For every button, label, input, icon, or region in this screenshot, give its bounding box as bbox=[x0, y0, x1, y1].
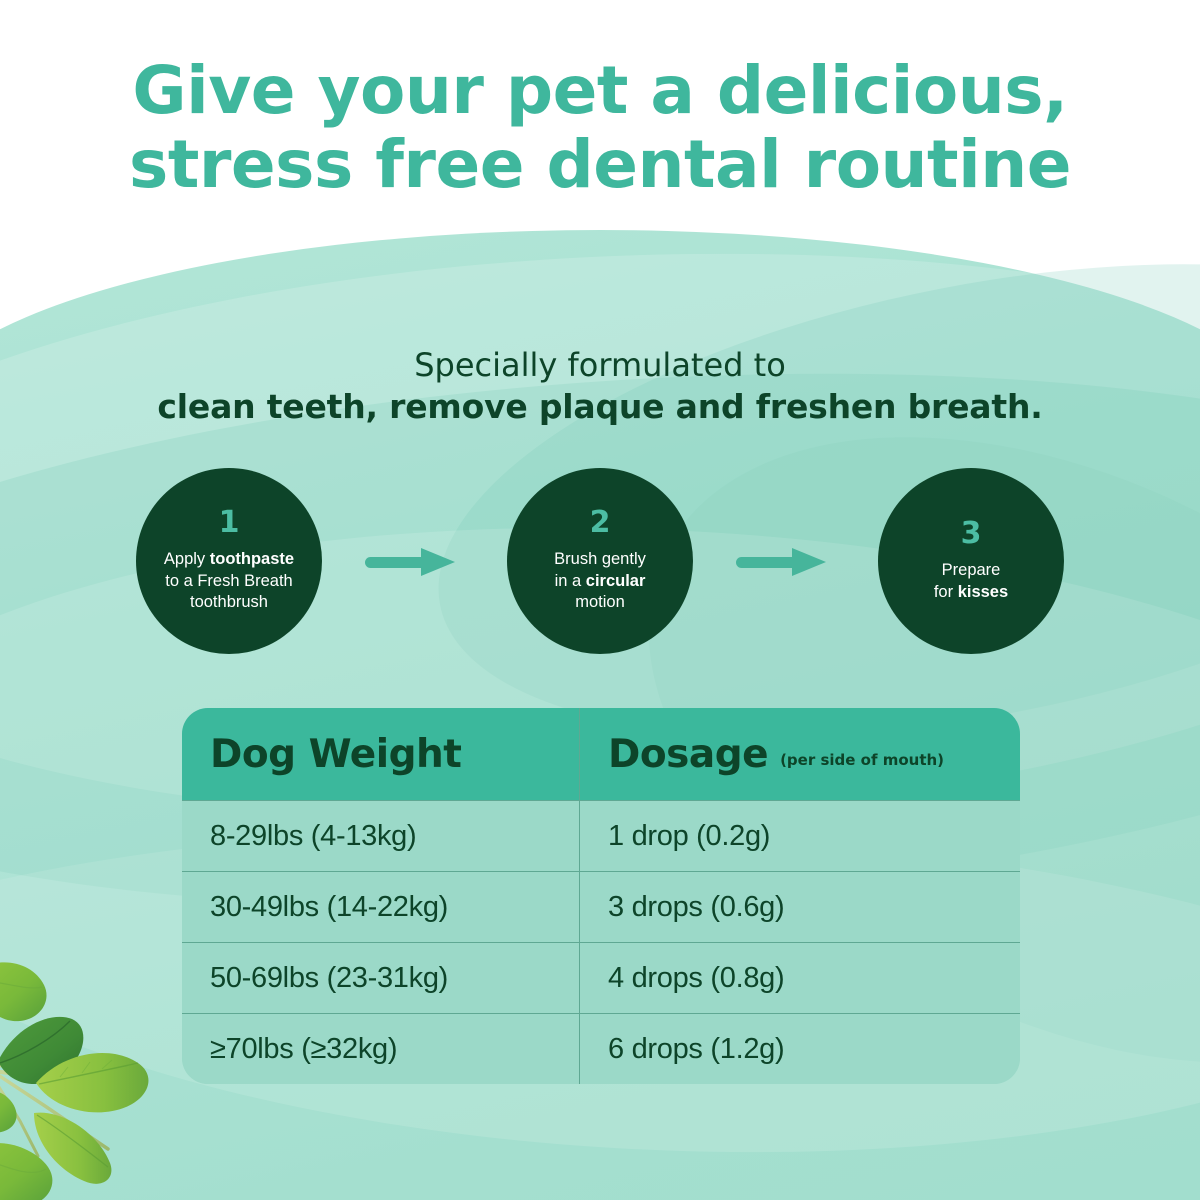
headline-line-2: stress free dental routine bbox=[0, 128, 1200, 202]
weight-value: 50-69lbs (23-31kg) bbox=[210, 962, 448, 995]
step-circle-2: 2 Brush gently in a circular motion bbox=[507, 468, 693, 654]
step-1-line1-bold: toothpaste bbox=[210, 550, 294, 568]
headline-line-1: Give your pet a delicious, bbox=[132, 52, 1067, 129]
subheading-line-1: Specially formulated to bbox=[0, 346, 1200, 386]
step-1-line3: toothbrush bbox=[190, 593, 268, 611]
subheading: Specially formulated to clean teeth, rem… bbox=[0, 346, 1200, 429]
weight-value: 8-29lbs (4-13kg) bbox=[210, 820, 416, 853]
arrow-head bbox=[421, 548, 455, 576]
table-row: 30-49lbs (14-22kg) 3 drops (0.6g) bbox=[182, 871, 1020, 942]
step-number-1: 1 bbox=[219, 508, 240, 538]
step-3-line2-pre: for bbox=[934, 583, 958, 601]
weight-value: ≥70lbs (≥32kg) bbox=[210, 1033, 397, 1066]
step-2-line2-pre: in a bbox=[555, 572, 586, 590]
table-header-dosage-note: (per side of mouth) bbox=[780, 751, 944, 769]
step-circle-1: 1 Apply toothpaste to a Fresh Breath too… bbox=[136, 468, 322, 654]
step-1-line2: to a Fresh Breath bbox=[165, 572, 292, 590]
dosage-value: 4 drops (0.8g) bbox=[608, 962, 784, 995]
table-cell-weight: ≥70lbs (≥32kg) bbox=[182, 1014, 580, 1084]
step-3-line1: Prepare bbox=[942, 561, 1001, 579]
step-1-line1-pre: Apply bbox=[164, 550, 210, 568]
infographic-page: Give your pet a delicious, stress free d… bbox=[0, 0, 1200, 1200]
table-header-cell-weight: Dog Weight bbox=[182, 708, 580, 800]
step-circle-3: 3 Prepare for kisses bbox=[878, 468, 1064, 654]
step-2-line1: Brush gently bbox=[554, 550, 646, 568]
dosage-value: 6 drops (1.2g) bbox=[608, 1033, 784, 1066]
dosage-value: 3 drops (0.6g) bbox=[608, 891, 784, 924]
steps-row: 1 Apply toothpaste to a Fresh Breath too… bbox=[0, 468, 1200, 668]
step-number-2: 2 bbox=[590, 508, 611, 538]
arrow-right-icon-2 bbox=[736, 548, 828, 576]
table-cell-dosage: 4 drops (0.8g) bbox=[580, 943, 1020, 1013]
table-cell-dosage: 3 drops (0.6g) bbox=[580, 872, 1020, 942]
table-row: 50-69lbs (23-31kg) 4 drops (0.8g) bbox=[182, 942, 1020, 1013]
table-header-dosage-label: Dosage bbox=[608, 732, 768, 777]
arrow-shaft bbox=[365, 557, 427, 568]
step-number-3: 3 bbox=[961, 519, 982, 549]
dosage-value: 1 drop (0.2g) bbox=[608, 820, 770, 853]
table-cell-weight: 30-49lbs (14-22kg) bbox=[182, 872, 580, 942]
headline: Give your pet a delicious, stress free d… bbox=[0, 54, 1200, 202]
step-3-line2-bold: kisses bbox=[958, 583, 1008, 601]
arrow-head bbox=[792, 548, 826, 576]
table-row: ≥70lbs (≥32kg) 6 drops (1.2g) bbox=[182, 1013, 1020, 1084]
table-header-row: Dog Weight Dosage (per side of mouth) bbox=[182, 708, 1020, 800]
table-header-cell-dosage: Dosage (per side of mouth) bbox=[580, 708, 1020, 800]
weight-value: 30-49lbs (14-22kg) bbox=[210, 891, 448, 924]
table-row: 8-29lbs (4-13kg) 1 drop (0.2g) bbox=[182, 800, 1020, 871]
table-cell-weight: 50-69lbs (23-31kg) bbox=[182, 943, 580, 1013]
subheading-line-2: clean teeth, remove plaque and freshen b… bbox=[0, 386, 1200, 429]
leaf-sprig-icon bbox=[0, 951, 205, 1200]
step-text-3: Prepare for kisses bbox=[934, 560, 1008, 604]
table-header-weight-label: Dog Weight bbox=[210, 732, 461, 777]
table-cell-weight: 8-29lbs (4-13kg) bbox=[182, 801, 580, 871]
arrow-shaft bbox=[736, 557, 798, 568]
dosage-table: Dog Weight Dosage (per side of mouth) 8-… bbox=[182, 708, 1020, 1084]
step-2-line3: motion bbox=[575, 593, 625, 611]
table-cell-dosage: 1 drop (0.2g) bbox=[580, 801, 1020, 871]
table-cell-dosage: 6 drops (1.2g) bbox=[580, 1014, 1020, 1084]
step-2-line2-bold: circular bbox=[586, 572, 646, 590]
step-text-1: Apply toothpaste to a Fresh Breath tooth… bbox=[164, 549, 294, 615]
step-text-2: Brush gently in a circular motion bbox=[554, 549, 646, 615]
arrow-right-icon-1 bbox=[365, 548, 457, 576]
